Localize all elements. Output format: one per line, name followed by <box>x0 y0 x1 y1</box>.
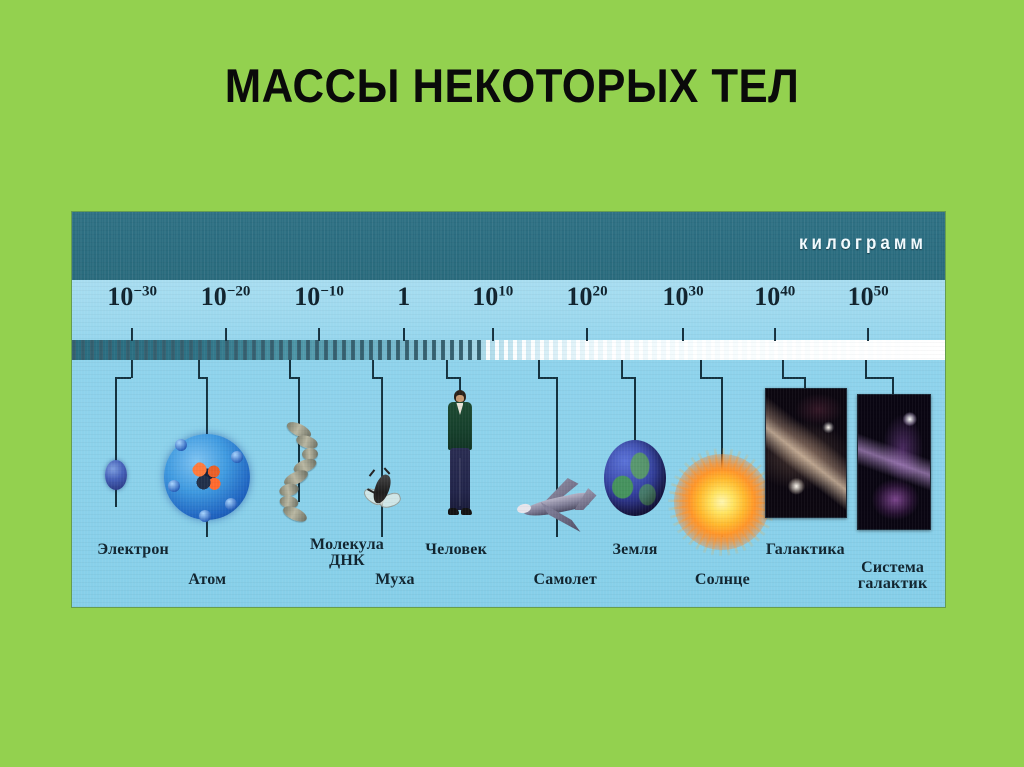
fly-icon <box>359 464 405 512</box>
axis-major-tick <box>586 328 588 341</box>
airplane-icon <box>513 474 601 538</box>
electron-icon <box>105 460 127 490</box>
atom-electron-dot <box>199 510 211 522</box>
atom-icon <box>164 434 250 520</box>
axis-tick-label: 1020 <box>567 284 608 310</box>
unit-label: килограмм <box>799 232 927 254</box>
axis-tick-label: 1030 <box>663 284 704 310</box>
object-label-fly: Муха <box>375 572 414 588</box>
axis-major-tick <box>867 328 869 341</box>
galaxy-system-image <box>858 395 930 529</box>
object-label-dna-molecule: Молекула ДНК <box>310 537 384 570</box>
atom-electron-dot <box>225 498 237 510</box>
object-label-sun: Солнце <box>695 572 750 588</box>
atom-electron-dot <box>231 451 243 463</box>
atom-electron-dot <box>168 480 180 492</box>
axis-major-tick <box>318 328 320 341</box>
axis-major-tick <box>403 328 405 341</box>
galaxy-photo <box>765 388 847 518</box>
galaxy-image <box>766 389 846 517</box>
scale-bar-ticks-dark <box>72 340 482 360</box>
human-figure-icon <box>445 390 475 516</box>
object-label-atom: Атом <box>188 572 226 588</box>
human-legs <box>450 448 470 510</box>
human-shoe <box>448 508 459 515</box>
axis-tick-label: 1 <box>397 284 410 310</box>
atom-electron-dot <box>175 439 187 451</box>
object-label-airplane: Самолет <box>534 572 597 588</box>
axis-major-tick <box>225 328 227 341</box>
sun-icon <box>674 454 770 550</box>
axis-tick-label: 1050 <box>848 284 889 310</box>
axis-tick-labels: 10−3010−2010−10110101020103010401050 <box>72 284 945 326</box>
atom-nucleus <box>190 460 224 494</box>
object-label-galaxy: Галактика <box>766 542 845 558</box>
axis-tick-label: 1010 <box>472 284 513 310</box>
axis-tick-label: 10−10 <box>294 284 344 310</box>
axis-major-tick <box>131 328 133 341</box>
axis-major-tick <box>492 328 494 341</box>
earth-globe-icon <box>604 440 666 516</box>
figure-header-band: килограмм <box>72 212 945 280</box>
logarithmic-scale-bar <box>72 340 945 360</box>
slide: МАССЫ НЕКОТОРЫХ ТЕЛ килограмм 10−3010−20… <box>0 0 1024 767</box>
object-label-earth: Земля <box>613 542 658 558</box>
human-face <box>456 395 464 402</box>
axis-tick-label: 10−30 <box>107 284 157 310</box>
galaxy-system-photo <box>857 394 931 530</box>
axis-tick-label: 10−20 <box>201 284 251 310</box>
object-label-human: Человек <box>425 542 487 558</box>
sun-corona <box>674 454 770 550</box>
dna-helix-icon <box>273 424 325 524</box>
page-title: МАССЫ НЕКОТОРЫХ ТЕЛ <box>36 58 988 113</box>
axis-major-tick <box>774 328 776 341</box>
axis-major-tick <box>682 328 684 341</box>
human-shoe <box>461 508 472 515</box>
fly-leg <box>369 469 376 477</box>
object-label-electron: Электрон <box>97 542 169 558</box>
object-label-galaxy-system: Система галактик <box>858 560 928 593</box>
axis-tick-label: 1040 <box>754 284 795 310</box>
mass-scale-figure: килограмм 10−3010−2010−10110101020103010… <box>72 212 945 607</box>
